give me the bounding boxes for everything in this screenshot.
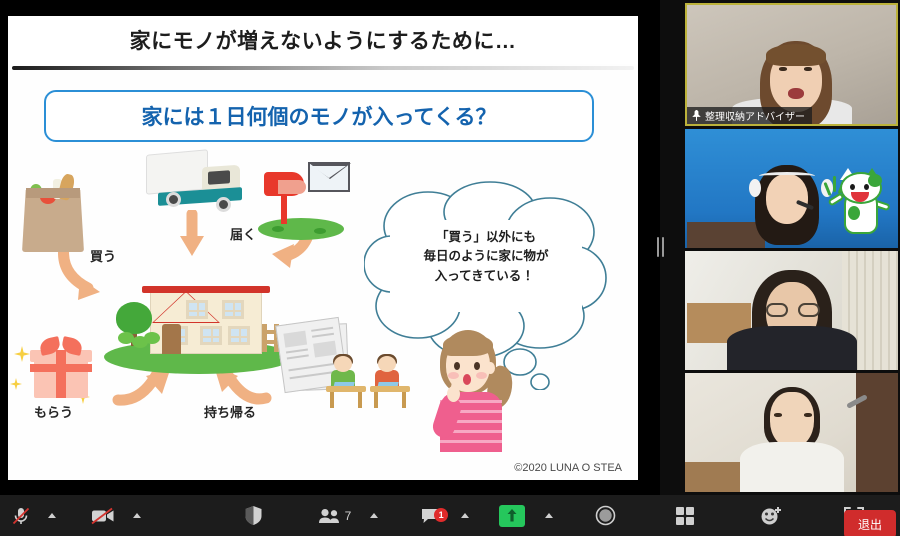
shared-screen-area[interactable]: 家にモノが増えないようにするために… 家には１日何個のモノが入ってくる？ [0, 0, 660, 495]
leave-meeting-button[interactable]: 退出 [844, 510, 896, 536]
participant-video-2 [685, 129, 898, 248]
video-tile-1[interactable]: 整理収納アドバイザー [685, 3, 898, 126]
video-tile-2[interactable] [685, 129, 898, 248]
presentation-slide: 家にモノが増えないようにするために… 家には１日何個のモノが入ってくる？ [8, 16, 638, 480]
question-text: 家には１日何個のモノが入ってくる？ [142, 101, 497, 131]
title-divider [12, 66, 634, 70]
share-screen-icon [499, 505, 525, 527]
zoom-meeting-window: 家にモノが増えないようにするために… 家には１日何個のモノが入ってくる？ [0, 0, 900, 536]
gift-illustration [28, 338, 94, 400]
chat-button[interactable]: 1 [410, 495, 452, 536]
record-button[interactable] [581, 495, 631, 536]
label-buy: 買う [90, 246, 116, 265]
question-box: 家には１日何個のモノが入ってくる？ [44, 90, 594, 142]
girl-character-illustration [426, 330, 522, 452]
mailbox-illustration [258, 160, 344, 238]
label-receive: もらう [34, 402, 73, 421]
chevron-up-icon [133, 513, 141, 518]
security-button[interactable] [225, 495, 283, 536]
chevron-up-icon [370, 513, 378, 518]
mascot-character-icon [834, 172, 888, 236]
bubble-text: 「買う」以外にも 毎日のように家に物が 入ってきている ！ [390, 228, 582, 286]
slide-diagram: 買う 届く [8, 148, 638, 480]
video-tile-4[interactable] [685, 373, 898, 492]
participants-options-caret[interactable] [364, 495, 383, 536]
shopping-bag-illustration [22, 174, 84, 252]
panel-drag-handle[interactable] [655, 236, 665, 258]
microphone-muted-icon [11, 506, 31, 526]
chat-unread-badge: 1 [434, 508, 448, 522]
share-options-caret[interactable] [539, 495, 558, 536]
pin-icon [692, 110, 701, 121]
slide-title: 家にモノが増えないようにするために… [130, 25, 517, 55]
chevron-up-icon [545, 513, 553, 518]
participants-icon [318, 508, 342, 524]
chevron-up-icon [48, 513, 56, 518]
shield-icon [244, 505, 263, 526]
copyright-notice: ©2020 LUNA O STEA [514, 462, 622, 474]
video-options-caret[interactable] [128, 495, 147, 536]
thought-bubble: 「買う」以外にも 毎日のように家に物が 入ってきている ！ [364, 180, 608, 348]
record-icon [595, 505, 616, 526]
chevron-up-icon [461, 513, 469, 518]
participant-name-chip-1: 整理収納アドバイザー [687, 107, 812, 124]
participants-count: 7 [345, 509, 352, 523]
breakout-rooms-icon [675, 506, 695, 526]
chat-options-caret[interactable] [456, 495, 475, 536]
breakout-rooms-button[interactable] [659, 495, 711, 536]
envelope-icon [308, 162, 350, 192]
participant-video-3 [685, 251, 898, 370]
video-thumbnail-strip: 整理収納アドバイザー [683, 0, 900, 495]
arrow-deliver [178, 210, 226, 272]
mute-options-caret[interactable] [42, 495, 61, 536]
slide-title-bar: 家にモノが増えないようにするために… [8, 16, 638, 64]
participants-button[interactable]: 7 [305, 495, 365, 536]
participant-name-1: 整理収納アドバイザー [705, 108, 805, 123]
video-tile-3[interactable] [685, 251, 898, 370]
house-illustration [104, 266, 294, 376]
video-button[interactable] [78, 495, 128, 536]
reactions-icon [760, 506, 782, 526]
delivery-truck-illustration [146, 152, 246, 214]
reactions-button[interactable] [745, 495, 797, 536]
label-deliver: 届く [230, 224, 256, 243]
share-screen-button[interactable] [491, 495, 533, 536]
meeting-toolbar: 7 1 [0, 495, 900, 536]
mute-button[interactable] [0, 495, 42, 536]
camera-off-icon [91, 507, 115, 525]
participant-video-4 [685, 373, 898, 492]
label-bring-home: 持ち帰る [204, 402, 256, 421]
